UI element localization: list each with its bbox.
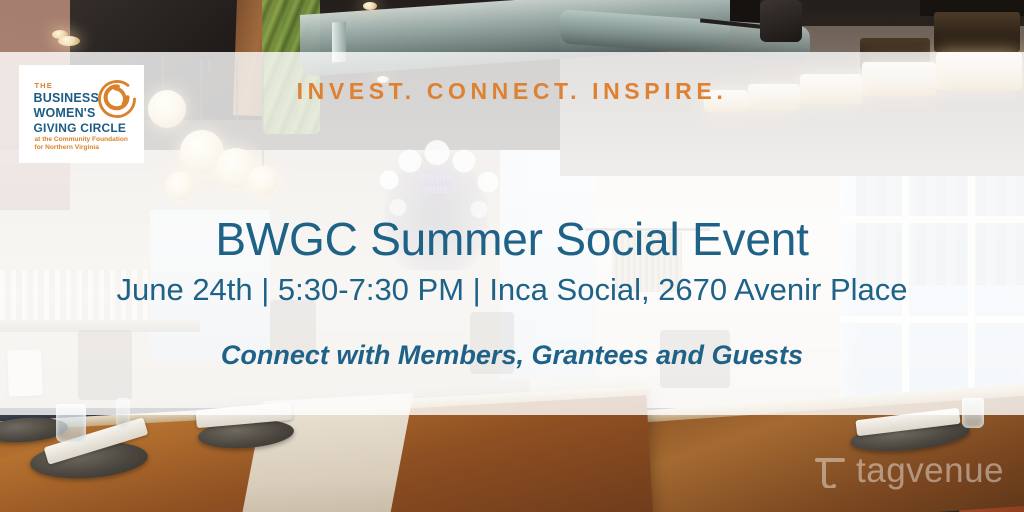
logo-line-womens: WOMEN'S (34, 106, 96, 120)
flyer-canvas: DRINKWISE (0, 0, 1024, 512)
logo-line-giving-circle: GIVING CIRCLE (34, 121, 127, 135)
pendant-drum-dark (934, 12, 1020, 52)
event-invitation: Connect with Members, Grantees and Guest… (0, 340, 1024, 371)
ceiling-speaker (760, 0, 802, 42)
event-details: June 24th | 5:30-7:30 PM | Inca Social, … (0, 272, 1024, 308)
event-title: BWGC Summer Social Event (0, 212, 1024, 266)
tagline: INVEST. CONNECT. INSPIRE. (0, 78, 1024, 105)
logo-subline-virginia: for Northern Virginia (35, 144, 99, 151)
recessed-light (58, 36, 80, 46)
recessed-light (363, 2, 377, 10)
logo-subline-foundation: at the Community Foundation (35, 136, 128, 143)
